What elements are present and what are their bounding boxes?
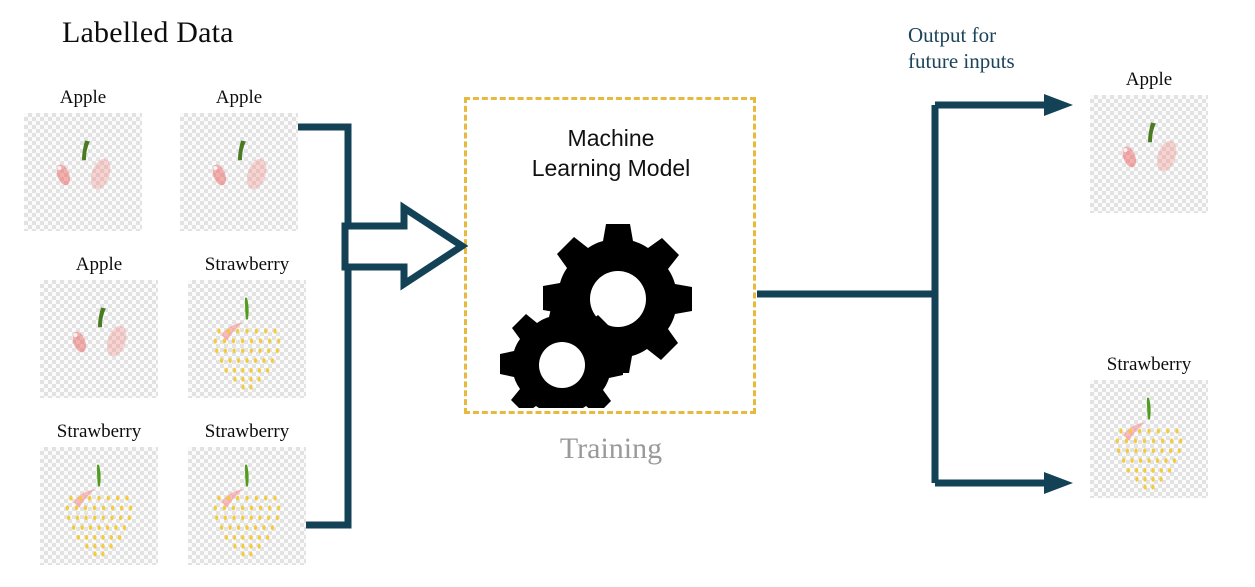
labelled-sample: Apple [180,88,298,231]
apple-image [40,280,158,398]
output-caption-line-2: future inputs [908,48,1015,74]
labelled-sample-label: Apple [40,255,158,274]
labelled-sample: Strawberry [188,422,306,565]
labelled-sample: Apple [24,88,142,231]
page-title: Labelled Data [62,16,234,50]
strawberry-image [40,447,158,565]
apple-image [24,113,142,231]
diagram-canvas: Labelled Data Machine Learning Model Tra… [0,0,1255,587]
labelled-sample: Strawberry [188,255,306,398]
output-trunk [757,105,935,483]
strawberry-image [188,447,306,565]
labelled-sample-label: Apple [24,88,142,107]
model-title-line-2: Learning Model [465,153,757,183]
output-caption-line-1: Output for [908,22,1015,48]
strawberry-image [188,280,306,398]
output-caption: Output for future inputs [908,22,1015,75]
training-caption: Training [465,432,757,466]
model-title-line-1: Machine [465,123,757,153]
output-result-label: Apple [1090,70,1208,89]
apple-image [1090,95,1208,213]
output-result: Strawberry [1090,355,1208,498]
labelled-sample: Strawberry [40,422,158,565]
output-result: Apple [1090,70,1208,213]
input-block-arrow [345,208,462,284]
labelled-sample-label: Strawberry [188,255,306,274]
output-arrowhead-strawberry [1044,472,1073,494]
labelled-sample-label: Apple [180,88,298,107]
output-result-label: Strawberry [1090,355,1208,374]
strawberry-image [1090,380,1208,498]
gears-icon [500,208,700,408]
apple-image [180,113,298,231]
labelled-sample: Apple [40,255,158,398]
labelled-sample-label: Strawberry [40,422,158,441]
machine-learning-model-title: Machine Learning Model [465,123,757,184]
labelled-sample-label: Strawberry [188,422,306,441]
output-arrowhead-apple [1044,94,1073,116]
